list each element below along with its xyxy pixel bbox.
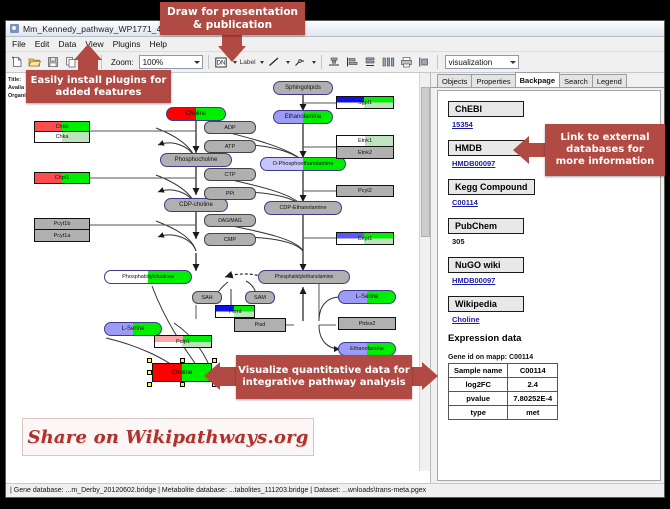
node-ppi[interactable]: PPi [204, 187, 256, 200]
gene-label: Chpt1 [55, 175, 70, 181]
callout-links-arrow-left-icon [513, 136, 529, 164]
gene-pemt[interactable]: Pemt [215, 305, 255, 318]
node-atp[interactable]: ATP [204, 140, 256, 153]
callout-plugins: Easily install plugins for added feature… [26, 70, 171, 103]
gene-label: Pisd [255, 322, 266, 328]
node-label: CDP-choline [179, 202, 213, 208]
node-sah[interactable]: SAH [192, 291, 222, 304]
gene-etnk1[interactable]: Etnk1 [336, 135, 394, 147]
node-label: Choline [172, 370, 192, 376]
tab-objects[interactable]: Objects [437, 74, 472, 87]
node-label: Phosphatidylethanolamine [275, 274, 334, 280]
screenshot-root: Mm_Kennedy_pathway_WP1771_45176.gpml Fil… [0, 0, 670, 509]
line-tool-icon[interactable] [267, 55, 282, 70]
node-label: CTP [225, 172, 236, 178]
gene-chkb[interactable]: Chkb [34, 121, 90, 132]
gene-ptdss2[interactable]: Ptdss2 [338, 317, 396, 330]
node-label: DAG/MAG [218, 218, 242, 224]
node-adp[interactable]: ADP [204, 121, 256, 134]
node-label: ADP [224, 125, 235, 131]
db-link-wikipedia[interactable]: Choline [452, 315, 660, 324]
callout-draw-line1: Draw for presentation [167, 6, 298, 18]
tab-search[interactable]: Search [559, 74, 593, 87]
gene-label: Etnk1 [358, 138, 372, 144]
node-phosphatidylcholines[interactable]: Phosphatidylcholines [104, 270, 192, 284]
table-row: Sample name C00114 [449, 364, 558, 378]
tab-legend[interactable]: Legend [592, 74, 627, 87]
node-label: Sphingolipids [285, 85, 321, 91]
save-disk-icon[interactable] [45, 55, 60, 70]
node-cmp[interactable]: CMP [204, 233, 256, 246]
node-label: CDP-Ethanolamine [279, 205, 326, 211]
node-label: SAH [201, 295, 212, 301]
expression-data-heading: Expression data [448, 333, 660, 344]
callout-links-line3: more information [556, 156, 655, 168]
node-label: PPi [226, 191, 235, 197]
node-choline-selected[interactable]: Choline [152, 363, 212, 382]
gene-label: Chkb [56, 124, 69, 130]
stack-vertical-icon[interactable] [363, 55, 378, 70]
cell-value: met [508, 406, 558, 420]
callout-share-box: Share on Wikipathways.org [22, 418, 314, 456]
gene-label: Pcyt1b [54, 221, 71, 227]
cell-value: 7.80252E-4 [508, 392, 558, 406]
table-row: log2FC 2.4 [449, 378, 558, 392]
node-label: Choline [186, 111, 206, 117]
callout-plugins-arrow-up-icon [74, 44, 102, 60]
distribute-icon[interactable] [381, 55, 396, 70]
gene-label: Cept1 [358, 236, 373, 242]
zoom-label: Zoom: [111, 58, 134, 67]
chevron-down-icon [194, 61, 200, 64]
node-l-serine-right[interactable]: L-Serine [338, 290, 396, 304]
status-bar-text: | Gene database: ...m_Derby_20120602.bri… [10, 487, 426, 494]
toolbar-separator-3 [321, 55, 322, 69]
callout-plugins-line1: Easily install plugins for [31, 75, 167, 87]
line-dropdown-icon[interactable] [286, 61, 290, 64]
table-row: type met [449, 406, 558, 420]
tab-properties[interactable]: Properties [471, 74, 515, 87]
order-icon[interactable] [417, 55, 432, 70]
callout-draw: Draw for presentation & publication [160, 2, 305, 35]
cell-value: C00114 [508, 364, 558, 378]
gene-id-on-mapp: Gene id on mapp: C00114 [448, 354, 660, 361]
db-link-kegg-compound[interactable]: C00114 [452, 198, 660, 207]
node-label: Phosphocholine [175, 157, 218, 163]
gene-pisd[interactable]: Pisd [234, 318, 286, 332]
callout-visualize-arrow-left-icon [204, 362, 220, 390]
db-header-kegg-compound: Kegg Compound [448, 179, 535, 195]
tab-backpage[interactable]: Backpage [515, 72, 560, 87]
callout-draw-arrow-down-icon [218, 46, 246, 62]
node-sam[interactable]: SAM [245, 291, 275, 304]
toolbar-separator-4 [437, 55, 438, 69]
db-header-nugo-wiki: NuGO wiki [448, 257, 524, 273]
gene-label: Sgpl1 [358, 100, 372, 106]
db-header-chebi: ChEBI [448, 101, 524, 117]
node-dagmag[interactable]: DAG/MAG [204, 214, 256, 227]
node-ethanolamine-bottom[interactable]: Ethanolamine [338, 342, 396, 356]
callout-links-line1: Link to external [560, 132, 649, 144]
node-cdp-choline[interactable]: CDP-choline [164, 198, 228, 212]
gene-pctp1[interactable]: Pctp1 [154, 335, 212, 348]
zoom-combobox[interactable]: 100% [139, 55, 203, 69]
table-row: pvalue 7.80252E-4 [449, 392, 558, 406]
db-link-nugo-wiki[interactable]: HMDB00097 [452, 276, 660, 285]
callout-visualize: Visualize quantitative data for integrat… [236, 355, 412, 399]
status-bar: | Gene database: ...m_Derby_20120602.bri… [6, 483, 664, 497]
side-panel-tabs: Objects Properties Backpage Search Legen… [431, 73, 664, 88]
expression-data-table: Sample name C00114 log2FC 2.4 pvalue 7.8… [448, 363, 558, 420]
cell-key: log2FC [449, 378, 508, 392]
gene-label: Ptdss2 [359, 321, 376, 327]
visualization-value: visualization [449, 58, 493, 67]
visualization-combobox[interactable]: visualization [445, 55, 519, 69]
canvas-vertical-scrollbar[interactable] [419, 73, 430, 471]
gene-chka[interactable]: Chka [34, 132, 90, 143]
toolbar-separator-2 [208, 55, 209, 69]
label-dropdown-icon[interactable] [260, 61, 264, 64]
callout-visualize-line2: integrative pathway analysis [242, 377, 405, 389]
window-title-bar: Mm_Kennedy_pathway_WP1771_45176.gpml [6, 21, 664, 37]
align-left-icon[interactable] [345, 55, 360, 70]
gene-label: Etnk2 [358, 150, 372, 156]
node-l-serine-mid[interactable]: L-Serine [104, 322, 162, 336]
callout-share-text: Share on Wikipathways.org [27, 427, 308, 448]
node-label: Ethanolamine [285, 114, 322, 120]
callout-links-line2: databases for [566, 144, 644, 156]
gene-pcyt2[interactable]: Pcyt2 [336, 185, 394, 197]
gene-pcyt1a[interactable]: Pcyt1a [34, 230, 90, 242]
gene-chpt1[interactable]: Chpt1 [34, 172, 90, 184]
node-phosphocholine[interactable]: Phosphocholine [160, 153, 232, 167]
align-center-icon[interactable] [327, 55, 342, 70]
gene-label: Pctp1 [176, 339, 190, 345]
gene-pcyt1b[interactable]: Pcyt1b [34, 218, 90, 230]
chevron-down-icon [510, 61, 516, 64]
node-ctp[interactable]: CTP [204, 168, 256, 181]
node-label: ATP [225, 144, 235, 150]
menu-plugins[interactable]: Plugins [112, 39, 142, 49]
node-sphingolipids[interactable]: Sphingolipids [273, 81, 333, 95]
gene-etnk2[interactable]: Etnk2 [336, 147, 394, 159]
cell-key: pvalue [449, 392, 508, 406]
menu-help[interactable]: Help [149, 39, 168, 49]
node-label: SAM [254, 295, 266, 301]
callout-draw-line2: & publication [193, 19, 272, 31]
node-o-phosphoethanolamine[interactable]: O-Phosphoethanolamine [260, 157, 346, 171]
gene-label: Chka [56, 134, 69, 140]
node-ethanolamine-top[interactable]: Ethanolamine [273, 110, 333, 124]
node-label: O-Phosphoethanolamine [273, 161, 334, 167]
node-phosphatidylethanolamine[interactable]: Phosphatidylethanolamine [258, 270, 350, 284]
node-label: L-Serine [356, 294, 379, 300]
menu-bar: File Edit Data View Plugins Help [6, 37, 664, 52]
gene-label: Pcyt2 [358, 188, 372, 194]
cell-value: 2.4 [508, 378, 558, 392]
menu-edit[interactable]: Edit [34, 39, 51, 49]
print-icon[interactable] [399, 55, 414, 70]
node-label: L-Serine [122, 326, 145, 332]
interaction-dropdown-icon[interactable] [312, 61, 316, 64]
open-folder-icon[interactable] [27, 55, 42, 70]
callout-visualize-line1: Visualize quantitative data for [238, 365, 410, 377]
node-label: CMP [224, 237, 236, 243]
gene-cept1[interactable]: Cept1 [336, 232, 394, 245]
callout-plugins-line2: added features [56, 87, 142, 99]
node-cdp-ethanolamine[interactable]: CDP-Ethanolamine [264, 201, 342, 215]
interaction-tool-icon[interactable] [293, 55, 308, 70]
zoom-value: 100% [143, 58, 163, 67]
cell-key: type [449, 406, 508, 420]
cell-key: Sample name [449, 364, 508, 378]
application-icon [10, 24, 19, 33]
db-header-wikipedia: Wikipedia [448, 296, 524, 312]
node-label: Ethanolamine [350, 346, 384, 352]
node-label: Phosphatidylcholines [122, 274, 174, 280]
node-choline-top[interactable]: Choline [166, 107, 226, 121]
menu-file[interactable]: File [11, 39, 27, 49]
gene-sgpl1[interactable]: Sgpl1 [336, 96, 394, 109]
gene-label: Pemt [229, 309, 242, 315]
db-header-pubchem: PubChem [448, 218, 524, 234]
new-file-icon[interactable] [9, 55, 24, 70]
callout-links: Link to external databases for more info… [545, 124, 665, 176]
db-value-pubchem: 305 [452, 237, 660, 246]
scrollbar-thumb[interactable] [421, 87, 430, 237]
callout-visualize-arrow-right-icon [422, 362, 438, 390]
gene-label: Pcyt1a [54, 233, 71, 239]
